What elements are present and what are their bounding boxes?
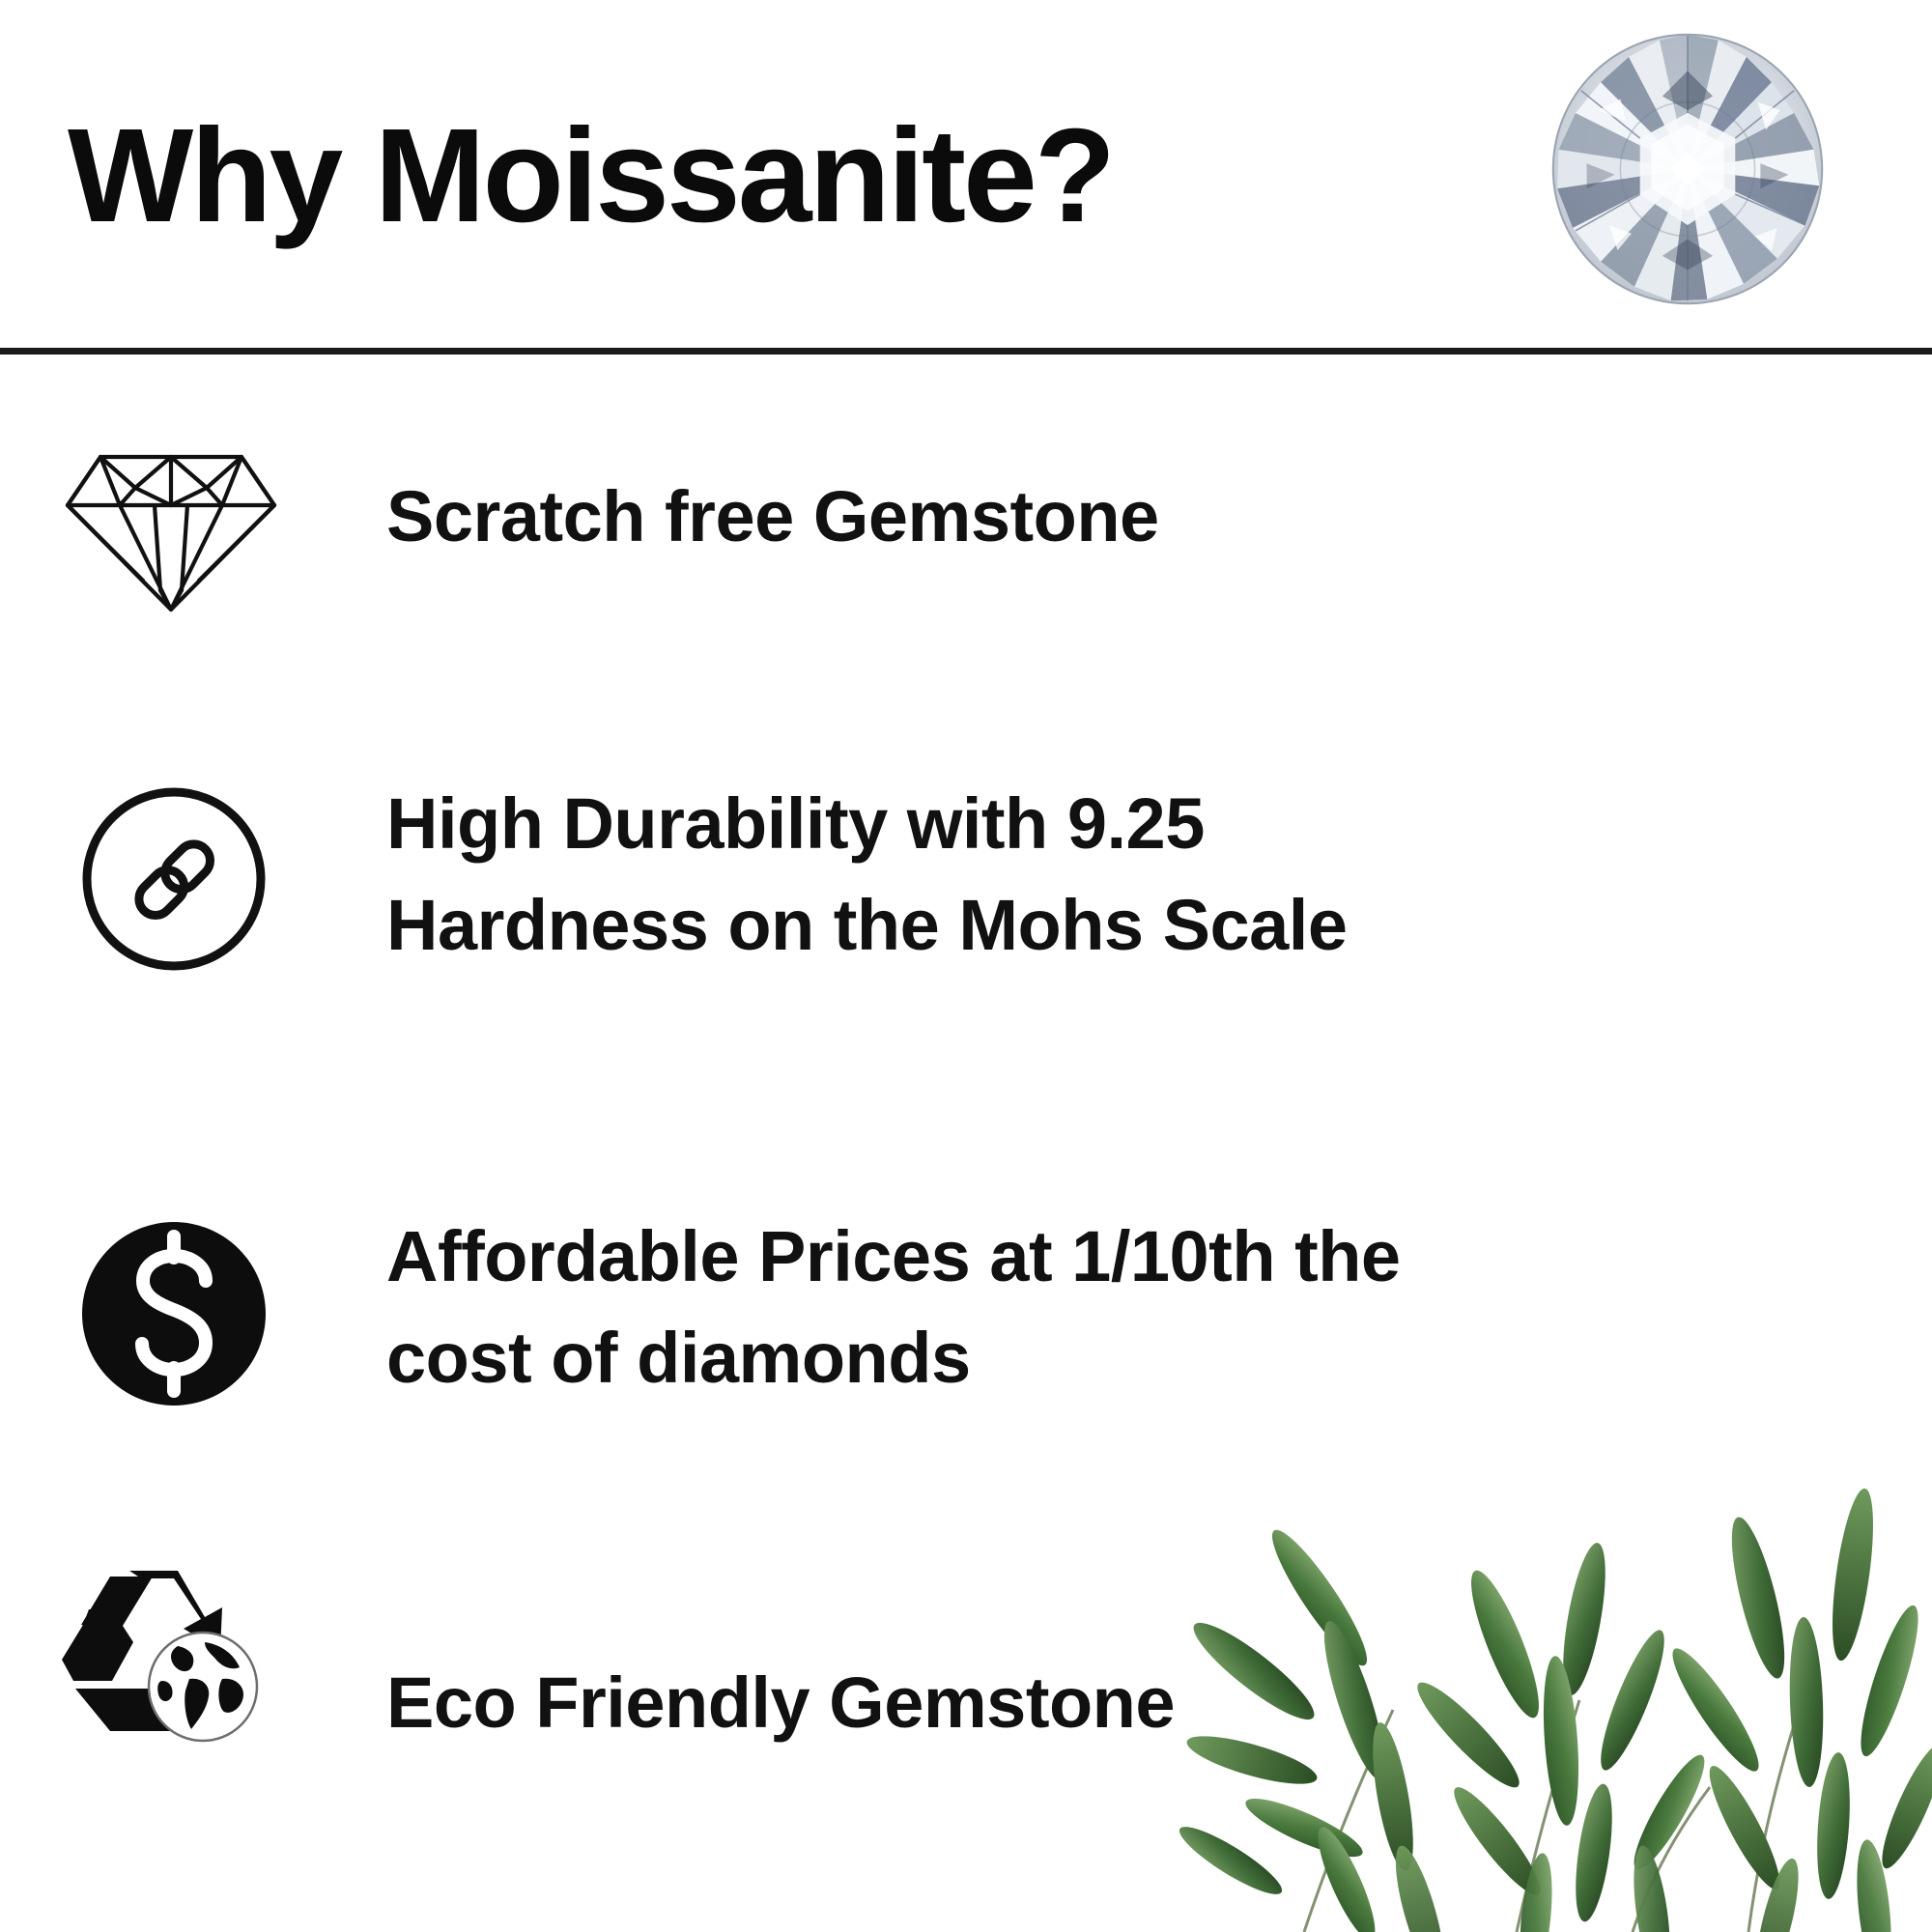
infographic-page: Why Moissanite? — [0, 0, 1932, 1932]
header: Why Moissanite? — [0, 0, 1932, 352]
round-brilliant-moissanite-photo — [1548, 29, 1828, 309]
feature-label: Scratch free Gemstone — [386, 466, 1159, 567]
recycle-globe-icon — [60, 1557, 272, 1750]
dollar-coin-icon — [77, 1217, 270, 1410]
feature-row: Eco Friendly Gemstone — [0, 1546, 1932, 1835]
feature-row: Affordable Prices at 1/10th the cost of … — [0, 1188, 1932, 1478]
diamond-outline-icon — [60, 444, 282, 618]
header-divider — [0, 348, 1932, 355]
feature-label: Affordable Prices at 1/10th the cost of … — [386, 1206, 1401, 1408]
page-title: Why Moissanite? — [68, 109, 1113, 242]
feature-label: High Durability with 9.25 Hardness on th… — [386, 773, 1348, 976]
link-circle-icon — [77, 782, 270, 976]
feature-row: Scratch free Gemstone — [0, 425, 1932, 676]
feature-row: High Durability with 9.25 Hardness on th… — [0, 753, 1932, 1043]
feature-label: Eco Friendly Gemstone — [386, 1652, 1175, 1753]
